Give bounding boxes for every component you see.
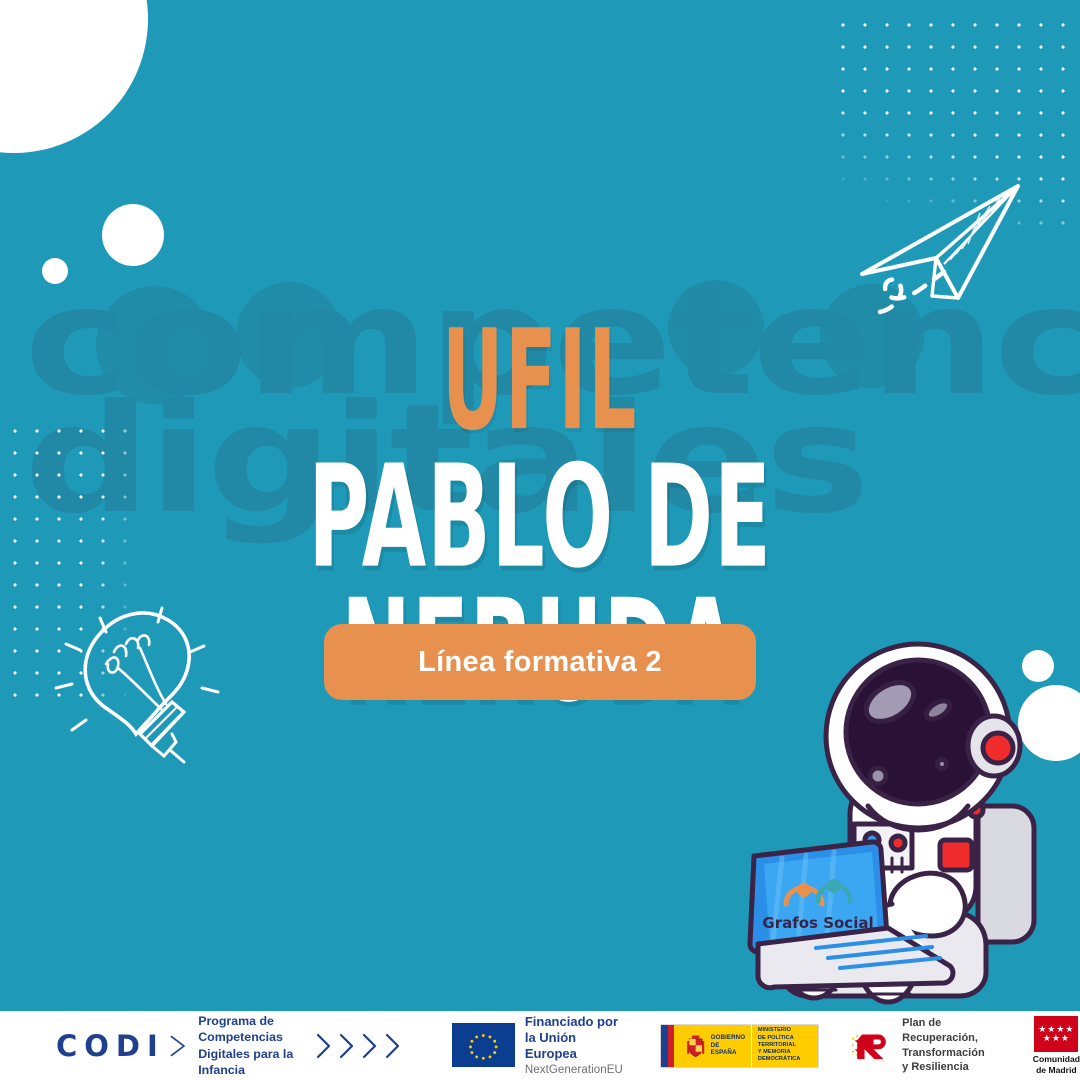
circle-decoration-medium bbox=[102, 204, 164, 266]
eu-line-2: la Unión Europea bbox=[525, 1030, 626, 1063]
laptop-screen-label: Grafos Social bbox=[762, 914, 873, 932]
gobierno-body: GOBIERNO DE ESPAÑA MINISTERIO DE POLÍTIC… bbox=[681, 1025, 818, 1067]
madrid-line-1: Comunidad bbox=[1033, 1054, 1080, 1064]
ministerio-line-1: MINISTERIO bbox=[758, 1027, 812, 1034]
codi-tagline-line-2: Digitales para la Infancia bbox=[198, 1046, 301, 1079]
ministerio-line-3: Y MEMORIA DEMOCRÁTICA bbox=[758, 1049, 812, 1064]
gobierno-line-2: DE ESPAÑA bbox=[711, 1042, 746, 1057]
prtr-line-1: Plan de Recuperación, bbox=[902, 1016, 999, 1045]
prtr-mark-icon bbox=[849, 1026, 895, 1066]
spain-flag-icon bbox=[661, 1025, 681, 1067]
poster: competencias digitales bbox=[0, 0, 1080, 1080]
poster-stage: competencias digitales bbox=[0, 0, 1080, 1011]
codi-tagline-line-1: Programa de Competencias bbox=[198, 1013, 301, 1046]
badge-label: Línea formativa 2 bbox=[418, 646, 662, 679]
madrid-flag-icon: ★★★★ ★★★ bbox=[1034, 1016, 1078, 1052]
prtr-logo: Plan de Recuperación, Transformación y R… bbox=[849, 1016, 998, 1074]
codi-logo: CODI Programa de Competencias Digitales … bbox=[56, 1013, 404, 1079]
madrid-line-2: de Madrid bbox=[1033, 1065, 1080, 1075]
prtr-line-3: y Resiliencia bbox=[902, 1060, 999, 1075]
footer-logo-bar: CODI Programa de Competencias Digitales … bbox=[0, 1011, 1080, 1080]
gobierno-line-1: GOBIERNO bbox=[711, 1034, 746, 1042]
gobierno-text: GOBIERNO DE ESPAÑA bbox=[711, 1034, 746, 1057]
circle-decoration-small bbox=[42, 258, 68, 284]
title-block: UFIL PABLO DE NERUDA bbox=[0, 318, 1080, 672]
codi-wordmark: CODI bbox=[56, 1029, 165, 1063]
eu-line-1: Financiado por bbox=[525, 1014, 626, 1030]
prtr-line-2: Transformación bbox=[902, 1046, 999, 1061]
gobierno-espana-logo: GOBIERNO DE ESPAÑA MINISTERIO DE POLÍTIC… bbox=[660, 1024, 819, 1068]
madrid-stars-top: ★★★★ bbox=[1034, 1025, 1078, 1033]
spain-coat-of-arms-icon bbox=[685, 1030, 706, 1062]
status-badge: Línea formativa 2 bbox=[324, 624, 756, 700]
eu-funding-text: Financiado por la Unión Europea NextGene… bbox=[525, 1014, 626, 1078]
divider bbox=[751, 1025, 752, 1067]
prtr-text: Plan de Recuperación, Transformación y R… bbox=[902, 1016, 999, 1074]
ministerio-text: MINISTERIO DE POLÍTICA TERRITORIAL Y MEM… bbox=[758, 1027, 812, 1063]
comunidad-madrid-logo: ★★★★ ★★★ Comunidad de Madrid bbox=[1033, 1016, 1080, 1075]
astronaut-illustration: Grafos Social bbox=[742, 628, 1080, 1011]
chevron-group-icon bbox=[313, 1031, 404, 1061]
chevron-right-icon bbox=[167, 1027, 188, 1065]
madrid-stars-bottom: ★★★ bbox=[1034, 1034, 1078, 1042]
circle-decoration-large bbox=[0, 0, 148, 153]
ministerio-line-2: DE POLÍTICA TERRITORIAL bbox=[758, 1035, 812, 1050]
eu-funding-logo: Financiado por la Unión Europea NextGene… bbox=[452, 1014, 626, 1078]
eu-flag-icon bbox=[452, 1023, 515, 1067]
eu-line-3: NextGenerationEU bbox=[525, 1063, 626, 1077]
paper-plane-icon bbox=[840, 150, 1070, 320]
codi-tagline: Programa de Competencias Digitales para … bbox=[198, 1013, 301, 1079]
title-eyebrow: UFIL bbox=[119, 318, 961, 445]
madrid-text: Comunidad de Madrid bbox=[1033, 1054, 1080, 1075]
